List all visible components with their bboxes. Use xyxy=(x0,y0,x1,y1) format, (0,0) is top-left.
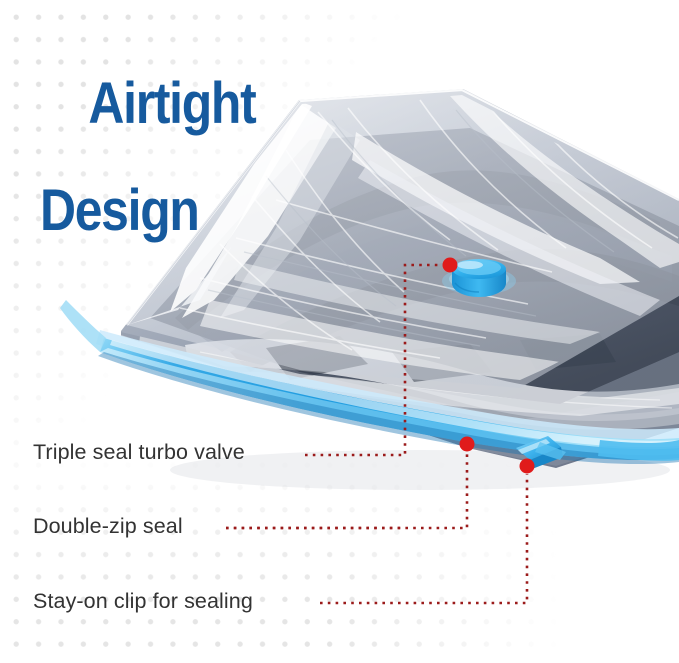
leader-line-double-zip xyxy=(226,452,467,528)
leader-line-stay-on-clip xyxy=(320,474,527,603)
marker-double-zip xyxy=(460,437,475,452)
marker-stay-on-clip xyxy=(520,459,535,474)
marker-turbo-valve xyxy=(443,258,458,273)
leader-line-turbo-valve xyxy=(305,265,442,455)
product-feature-banner: Airtight Design Triple seal turbo valve … xyxy=(0,0,679,663)
callout-leader-lines xyxy=(0,0,679,663)
